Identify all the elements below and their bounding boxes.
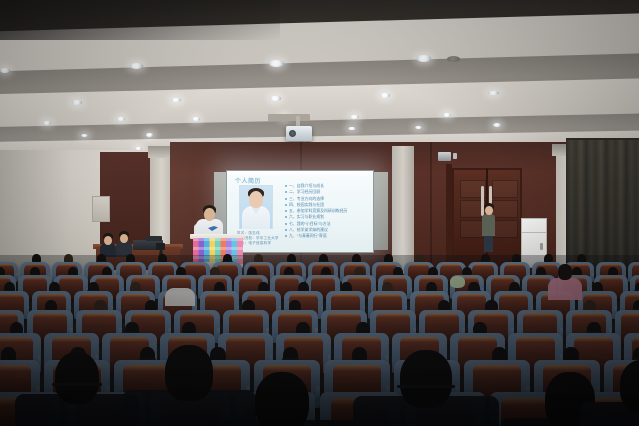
downlight-11 bbox=[43, 121, 51, 125]
downlight-13 bbox=[192, 117, 200, 121]
pink-shirt-attendee bbox=[548, 278, 582, 300]
downlight-5 bbox=[447, 56, 460, 62]
wall-sensor-icon bbox=[453, 153, 457, 159]
lectern-poster-overlay bbox=[193, 238, 243, 264]
foreground-head bbox=[55, 352, 99, 404]
projector-lens-icon bbox=[289, 130, 296, 137]
downlight-2 bbox=[130, 63, 143, 69]
cabinet-seam bbox=[521, 232, 547, 233]
downlight-4 bbox=[417, 55, 432, 62]
downlight-7 bbox=[171, 98, 181, 103]
wall-mounted-panel bbox=[92, 196, 110, 222]
laptop-icon bbox=[146, 236, 162, 241]
downlight-16 bbox=[443, 113, 451, 117]
foreground-head bbox=[165, 345, 213, 401]
lecture-hall-photo: 个人简历 姓名：张志伟毕业院校：华中工业大学专业：电子信息科学 一、自我介绍与成… bbox=[0, 0, 639, 426]
staff-person-head bbox=[104, 236, 112, 245]
wood-wall-seam bbox=[430, 142, 432, 282]
projection-screen: 个人简历 姓名：张志伟毕业院校：华中工业大学专业：电子信息科学 一、自我介绍与成… bbox=[227, 171, 373, 252]
ceiling-corner-shadow bbox=[0, 0, 280, 40]
screen-top-glow bbox=[227, 171, 373, 179]
portrait-face bbox=[249, 191, 263, 208]
eyeglasses-icon bbox=[52, 383, 102, 386]
wall-pillar-mid bbox=[392, 146, 414, 274]
door-person-head bbox=[485, 206, 493, 215]
downlight-3 bbox=[269, 60, 284, 67]
downlight-15 bbox=[350, 115, 359, 119]
eyeglasses-icon bbox=[397, 385, 455, 388]
green-cap-attendee bbox=[450, 276, 465, 288]
downlight-1 bbox=[0, 68, 10, 73]
door-panel bbox=[492, 180, 518, 198]
foreground-head bbox=[255, 372, 309, 426]
white-shirt-attendee bbox=[165, 288, 195, 306]
cabinet-handle[interactable] bbox=[540, 243, 543, 250]
downlight-19 bbox=[146, 133, 153, 136]
wall-speaker-icon bbox=[438, 152, 451, 161]
downlight-6 bbox=[72, 100, 82, 105]
door-handle[interactable] bbox=[481, 186, 484, 216]
downlight-9 bbox=[380, 93, 390, 98]
door-panel bbox=[492, 200, 518, 218]
door-person-torso bbox=[482, 214, 495, 236]
door-person-legs bbox=[484, 235, 493, 252]
slide-bullet-list: 一、自我介绍与成长二、学习经历回顾三、专业方向的选择四、校园实践与社团五、参加学… bbox=[285, 183, 369, 240]
pink-shirt-attendee-head bbox=[558, 264, 572, 280]
downlight-8 bbox=[270, 96, 281, 101]
staff-person-head bbox=[120, 234, 128, 243]
projector-mount-plate bbox=[268, 114, 310, 121]
foreground-head bbox=[400, 350, 452, 408]
door-panel bbox=[492, 220, 518, 238]
slide-bullet-9: 九、“与青春同行”寄语 bbox=[285, 233, 369, 239]
screen-flank-right bbox=[374, 172, 388, 250]
downlight-20 bbox=[348, 127, 355, 130]
speaker-head bbox=[204, 208, 215, 221]
